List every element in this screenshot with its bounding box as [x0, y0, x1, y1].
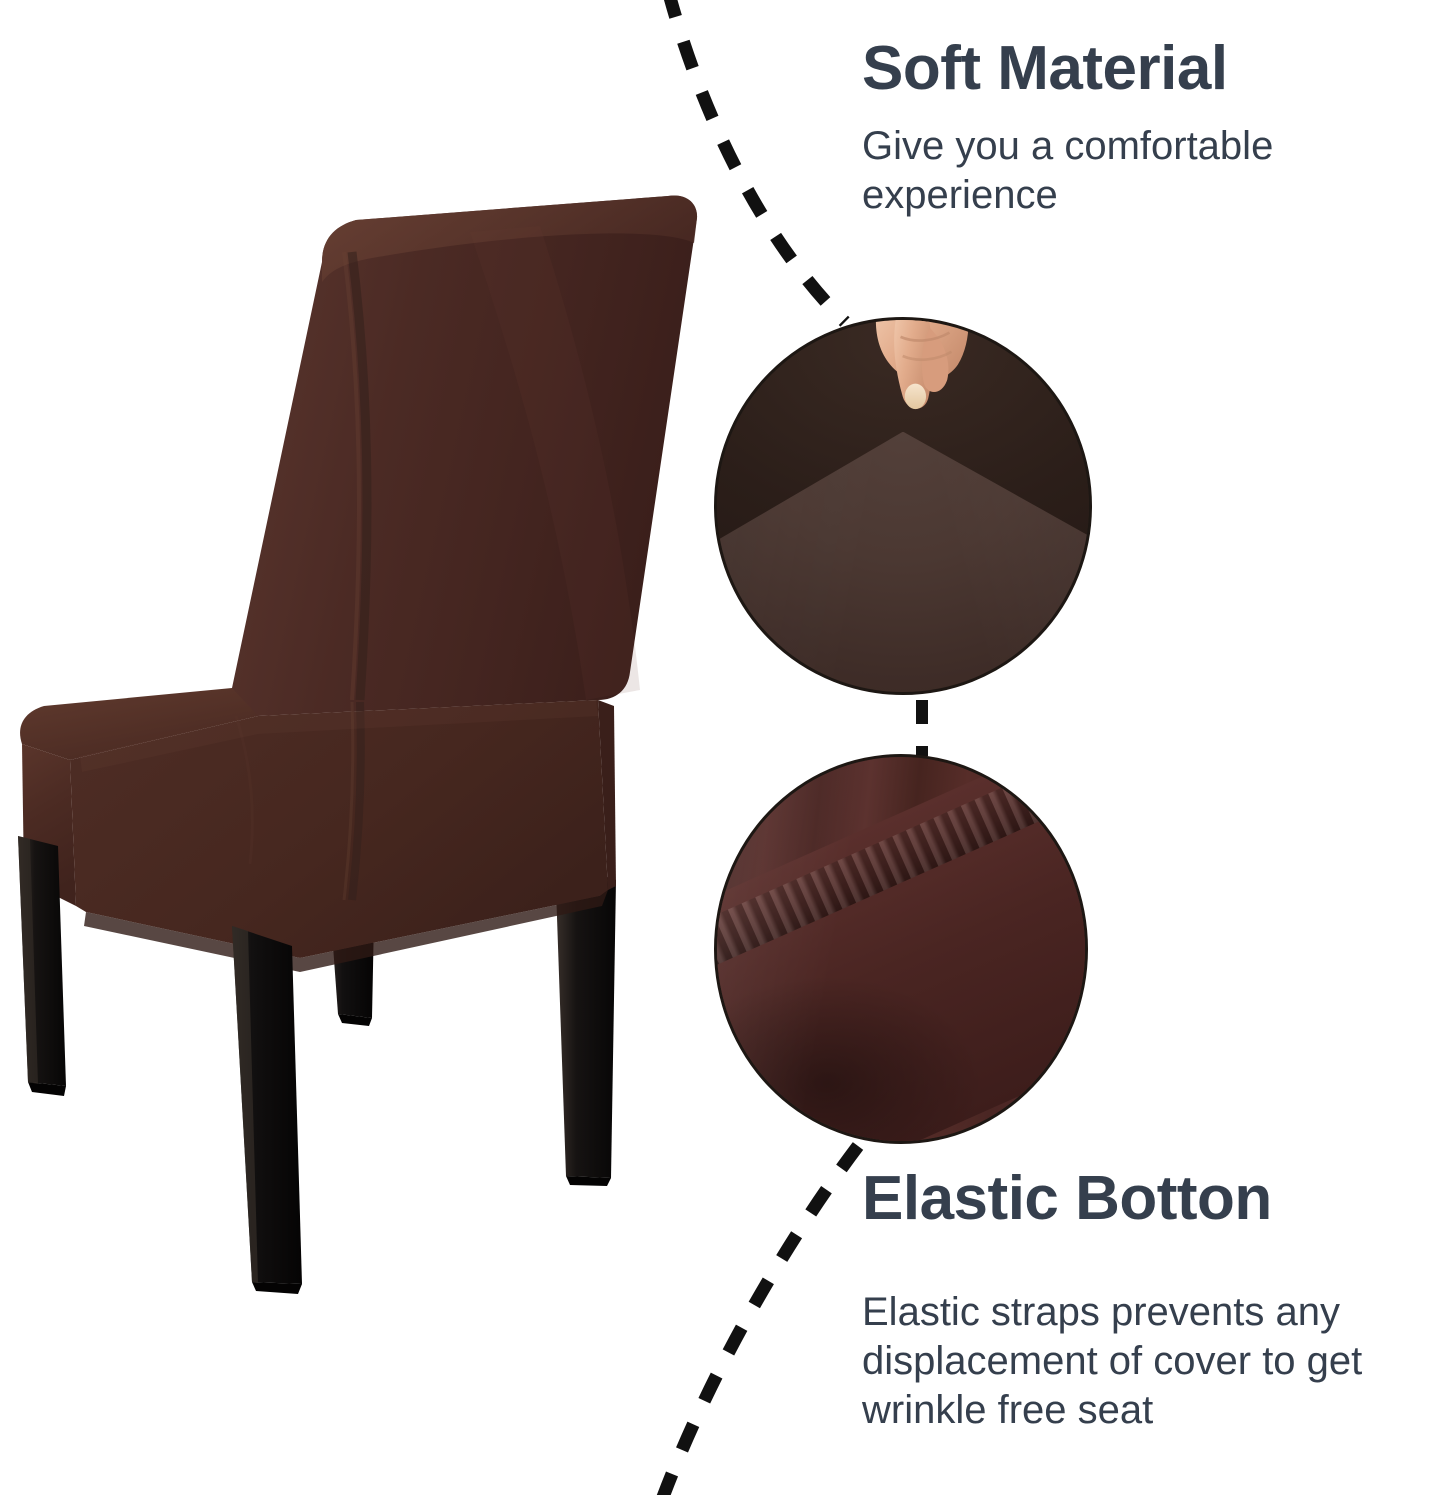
chair-leg-front-right — [232, 926, 302, 1294]
detail-photo-soft-material — [714, 317, 1092, 695]
feature-title-elastic-botton: Elastic Botton — [862, 1168, 1422, 1230]
chair-backrest — [232, 195, 697, 716]
hand-pinching-icon — [866, 317, 978, 454]
detail-photo-elastic-hem — [714, 754, 1088, 1144]
feature-block-elastic-botton: Elastic Botton Elastic straps prevents a… — [862, 1168, 1422, 1434]
feature-title-soft-material: Soft Material — [862, 38, 1422, 100]
hem-highlight — [717, 757, 1085, 1141]
chair-seat-skirt — [20, 688, 616, 972]
feature-block-soft-material: Soft Material Give you a comfortable exp… — [862, 38, 1422, 220]
feature-description-elastic-botton: Elastic straps prevents any displacement… — [862, 1288, 1417, 1434]
feature-description-soft-material: Give you a comfortable experience — [862, 122, 1392, 220]
product-chair-illustration — [0, 0, 720, 1330]
chair-leg-front-left — [18, 836, 66, 1096]
infographic-canvas: Soft Material Give you a comfortable exp… — [0, 0, 1445, 1495]
